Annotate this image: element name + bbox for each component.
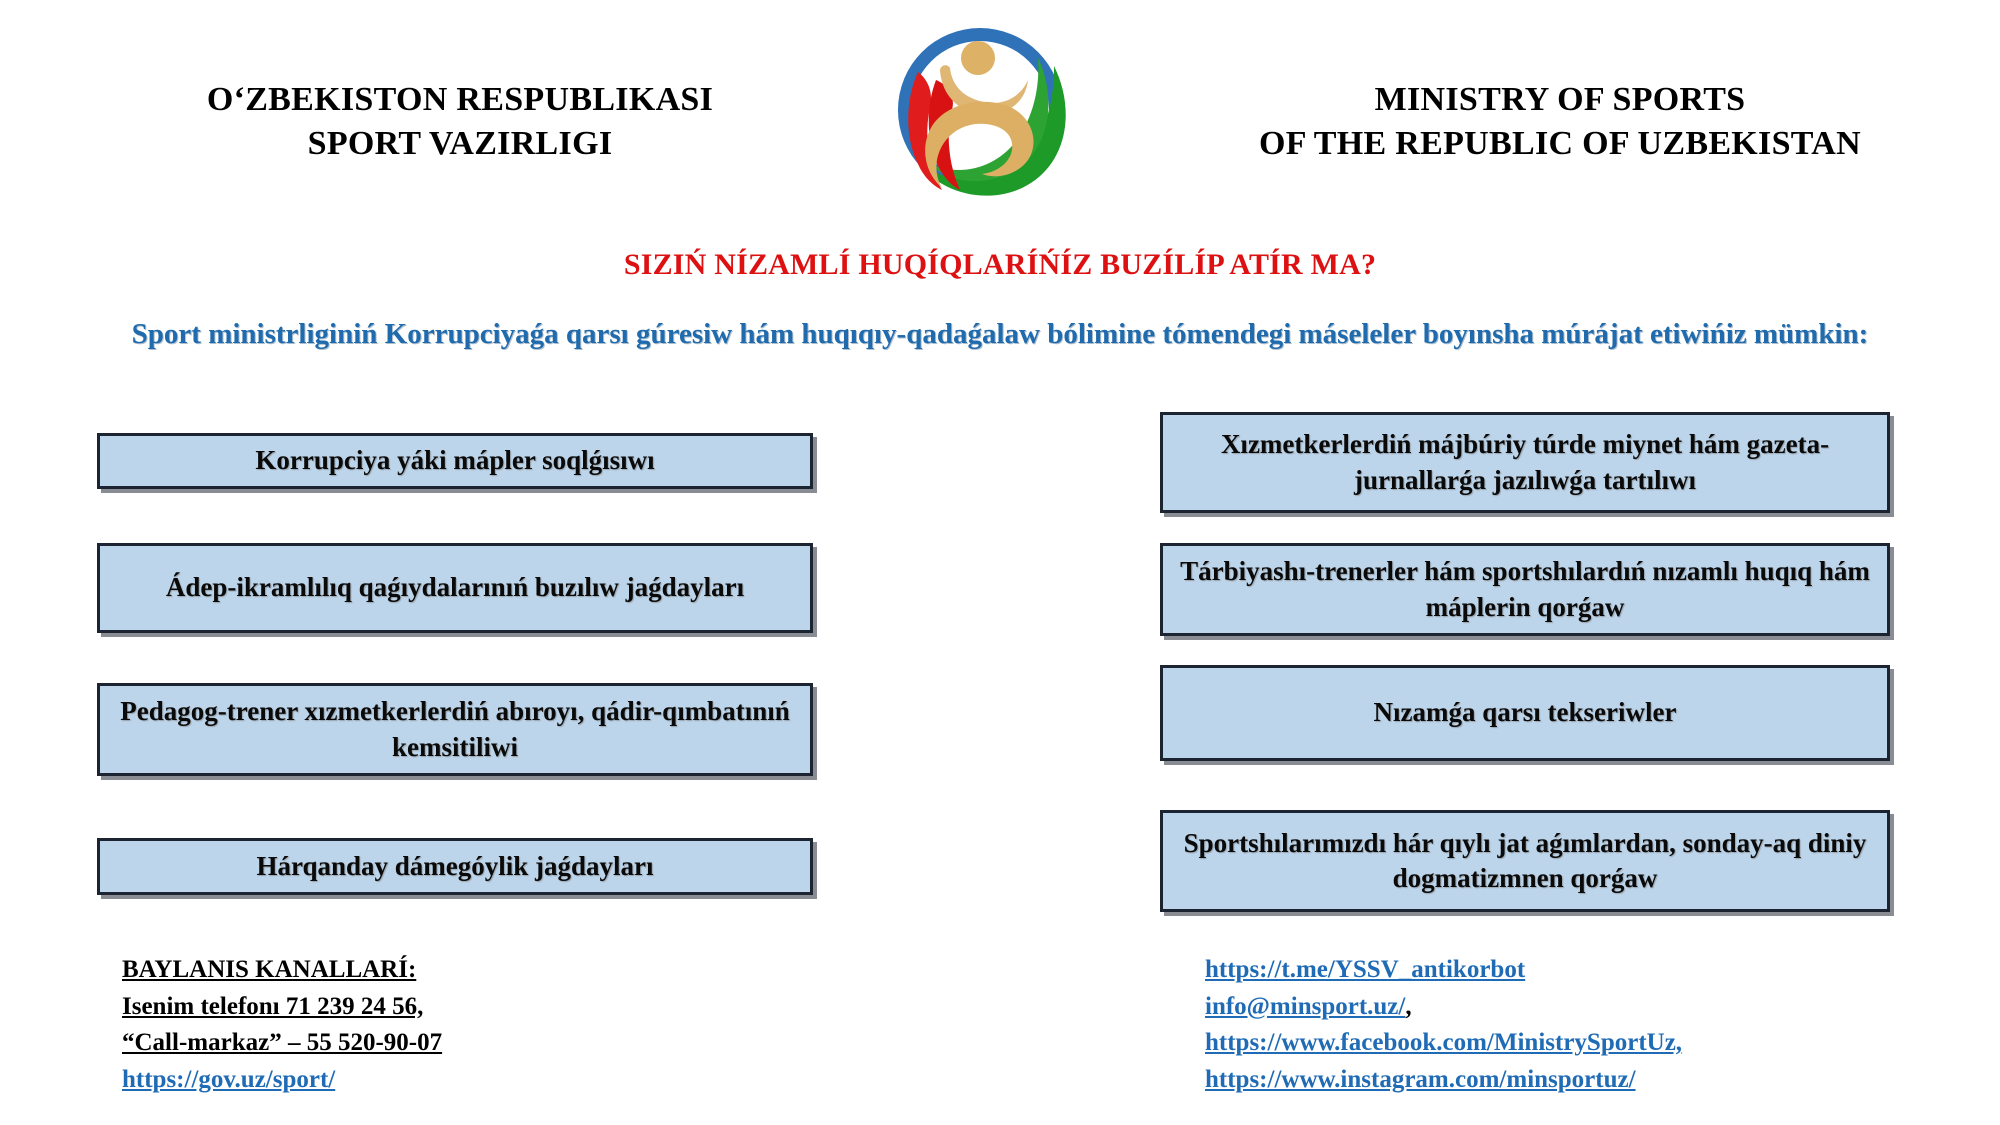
topic-box-right-2[interactable]: Tárbiyashı-trenerler hám sportshılardıń … — [1160, 543, 1890, 636]
contact-callcenter-line: “Call-markaz” – 55 520-90-07 — [122, 1025, 742, 1062]
topic-box-label: Xızmetkerlerdiń májbúriy túrde miynet há… — [1177, 427, 1873, 497]
topic-box-label: Tárbiyashı-trenerler hám sportshılardıń … — [1177, 554, 1873, 624]
contact-phone: Isenim telefonı 71 239 24 56, — [122, 993, 423, 1020]
topic-box-label: Pedagog-trener xızmetkerlerdiń abıroyı, … — [114, 694, 796, 764]
online-channels-block: https://t.me/YSSV_antikorbot info@minspo… — [1205, 952, 1905, 1098]
link-gov-uz-sport[interactable]: https://gov.uz/sport/ — [122, 1066, 335, 1093]
contact-website-line: https://gov.uz/sport/ — [122, 1062, 742, 1099]
link-facebook-ministrysportuz[interactable]: https://www.facebook.com/MinistrySportUz… — [1205, 1029, 1682, 1056]
email-comma: , — [1405, 993, 1411, 1020]
link-email-minsport[interactable]: info@minsport.uz/ — [1205, 993, 1405, 1020]
topic-box-left-4[interactable]: Hárqanday dámegóylik jaǵdayları — [97, 838, 813, 895]
topic-box-label: Nızamǵa qarsı tekseriwler — [1374, 695, 1677, 730]
topic-box-label: Ádep-ikramlılıq qaǵıydalarınıń buzılıw j… — [166, 570, 744, 605]
contact-heading: BAYLANIS KANALLARÍ: — [122, 956, 416, 983]
topic-box-left-3[interactable]: Pedagog-trener xızmetkerlerdiń abıroyı, … — [97, 683, 813, 776]
topic-box-label: Korrupciya yáki mápler soqlǵısıwı — [255, 443, 654, 478]
page-subtitle: Sport ministrliginiń Korrupciyaǵa qarsı … — [60, 315, 1940, 354]
topic-box-left-1[interactable]: Korrupciya yáki mápler soqlǵısıwı — [97, 433, 813, 489]
contact-heading-line: BAYLANIS KANALLARÍ: — [122, 952, 742, 989]
contact-call-center: “Call-markaz” – 55 520-90-07 — [122, 1029, 442, 1056]
telegram-line: https://t.me/YSSV_antikorbot — [1205, 952, 1905, 989]
contact-phone-line: Isenim telefonı 71 239 24 56, — [122, 989, 742, 1026]
topic-box-right-4[interactable]: Sportshılarımızdı hár qıylı jat aǵımlard… — [1160, 810, 1890, 912]
link-instagram-minsportuz[interactable]: https://www.instagram.com/minsportuz/ — [1205, 1066, 1636, 1093]
topic-box-right-1[interactable]: Xızmetkerlerdiń májbúriy túrde miynet há… — [1160, 412, 1890, 513]
facebook-line: https://www.facebook.com/MinistrySportUz… — [1205, 1025, 1905, 1062]
topic-box-right-3[interactable]: Nızamǵa qarsı tekseriwler — [1160, 665, 1890, 761]
link-telegram-antikorbot[interactable]: https://t.me/YSSV_antikorbot — [1205, 956, 1525, 983]
email-line: info@minsport.uz/, — [1205, 989, 1905, 1026]
header-title-uzbek: O‘ZBEKISTON RESPUBLIKASI SPORT VAZIRLIGI — [80, 78, 840, 165]
header-title-english: MINISTRY OF SPORTS OF THE REPUBLIC OF UZ… — [1160, 78, 1960, 165]
topic-box-label: Sportshılarımızdı hár qıylı jat aǵımlard… — [1177, 826, 1873, 896]
topic-box-left-2[interactable]: Ádep-ikramlılıq qaǵıydalarınıń buzılıw j… — [97, 543, 813, 633]
ministry-logo-icon — [862, 14, 1092, 204]
poster-canvas: O‘ZBEKISTON RESPUBLIKASI SPORT VAZIRLIGI… — [0, 0, 2000, 1125]
contact-channels-block: BAYLANIS KANALLARÍ: Isenim telefonı 71 2… — [122, 952, 742, 1098]
instagram-line: https://www.instagram.com/minsportuz/ — [1205, 1062, 1905, 1099]
topic-box-label: Hárqanday dámegóylik jaǵdayları — [256, 849, 653, 884]
page-headline: SIZIŃ NÍZAMLÍ HUQÍQLARÍŃÍZ BUZÍLÍP ATÍR … — [0, 248, 2000, 282]
